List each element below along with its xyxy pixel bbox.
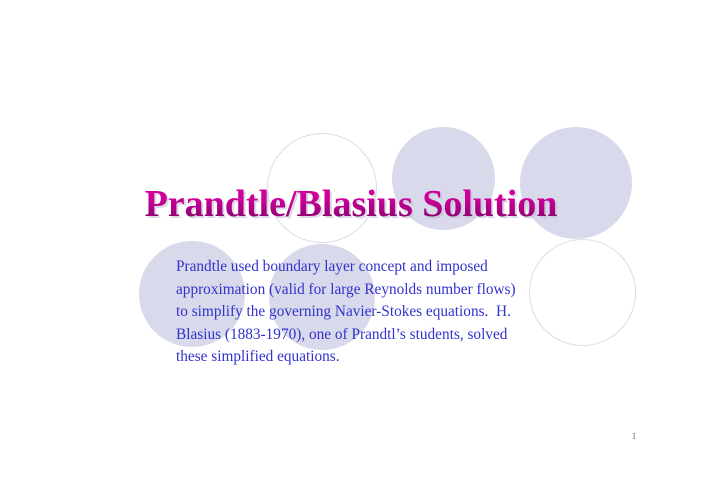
- body-text-line: these simplified equations.: [176, 346, 640, 369]
- page-number: 1: [622, 431, 646, 441]
- slide-body-text: Prandtle used boundary layer concept and…: [176, 256, 640, 369]
- body-text-line: Prandtle used boundary layer concept and…: [176, 256, 640, 279]
- slide-title: Prandtle/Blasius Solution: [0, 182, 702, 226]
- body-text-line: Blasius (1883-1970), one of Prandtl’s st…: [176, 324, 640, 347]
- slide-content: Prandtle/Blasius Solution Prandtle used …: [0, 0, 702, 496]
- body-text-line: approximation (valid for large Reynolds …: [176, 279, 640, 302]
- slide-canvas: Prandtle/Blasius Solution Prandtle used …: [0, 0, 702, 496]
- body-text-line: to simplify the governing Navier-Stokes …: [176, 301, 640, 324]
